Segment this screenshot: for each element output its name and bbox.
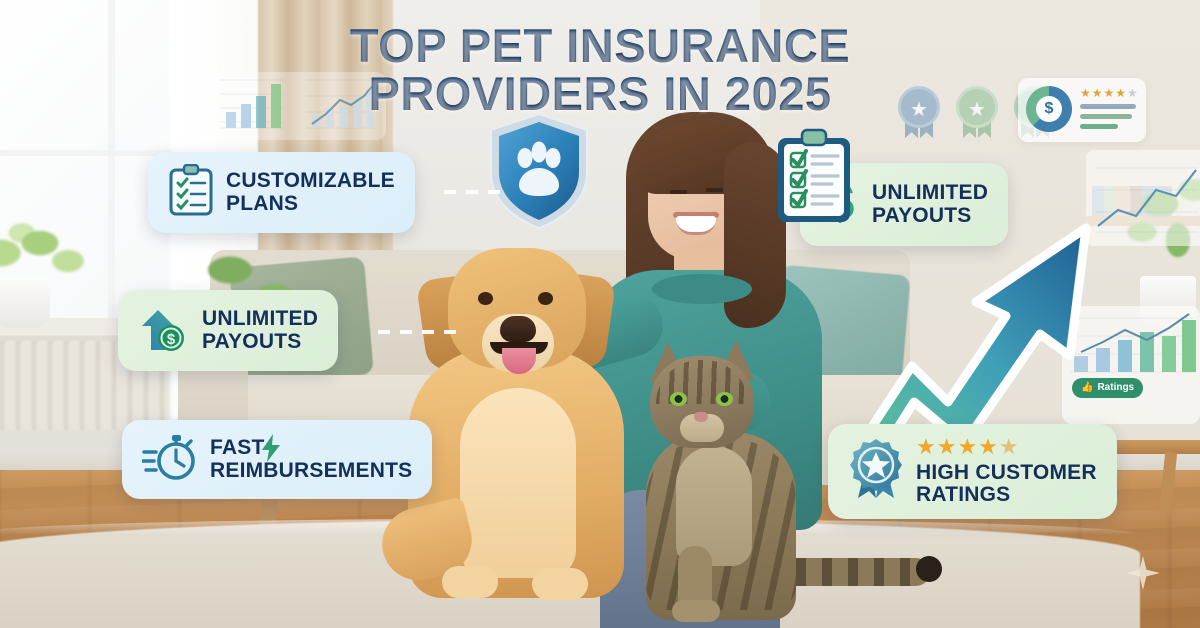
woman-brow-right bbox=[703, 176, 724, 180]
badge-label: FAST REIMBURSEMENTS bbox=[210, 437, 412, 482]
woman-eye-left bbox=[670, 190, 687, 194]
connector-payouts-to-scene bbox=[378, 330, 458, 334]
badge-label: HIGH CUSTOMER RATINGS bbox=[916, 462, 1097, 507]
woman-sweater-collar bbox=[652, 274, 752, 304]
badge-label: UNLIMITED PAYOUTS bbox=[872, 182, 988, 227]
dog-nose bbox=[500, 316, 536, 342]
woman-brow-left bbox=[667, 178, 688, 182]
window-mullion-vertical bbox=[108, 0, 115, 320]
badge-label-text: FAST REIMBURSEMENTS bbox=[210, 436, 412, 481]
arrow-up-dollar-icon: $ bbox=[138, 302, 190, 359]
badge-fast-reimbursements[interactable]: FAST REIMBURSEMENTS bbox=[122, 420, 432, 499]
dog-eye-left bbox=[478, 292, 493, 305]
decor-star-rating: ★★★★★ bbox=[1080, 86, 1139, 100]
infographic-canvas: ★ ★ ★ $ ★★★★★ bbox=[0, 0, 1200, 628]
svg-text:$: $ bbox=[167, 331, 176, 348]
dog-chest bbox=[460, 388, 576, 578]
badge-high-customer-ratings[interactable]: ★★★★★ HIGH CUSTOMER RATINGS bbox=[828, 424, 1117, 519]
decor-bar-3 bbox=[1080, 124, 1118, 129]
decor-bar-2 bbox=[1080, 114, 1132, 119]
clipboard-checklist-icon-large bbox=[772, 128, 856, 233]
badge-label: CUSTOMIZABLE PLANS bbox=[226, 170, 395, 215]
cat-tail bbox=[780, 558, 930, 586]
dog-eye-right bbox=[538, 292, 553, 305]
decor-bar-chart-card bbox=[206, 72, 386, 140]
badge-label: UNLIMITED PAYOUTS bbox=[202, 308, 318, 353]
dog-paw-right bbox=[532, 568, 588, 600]
dog-paw-left bbox=[442, 566, 498, 598]
golden-retriever-dog bbox=[386, 230, 646, 615]
decor-stars-filled: ★★★★ bbox=[1080, 86, 1127, 100]
cat-eye-left bbox=[670, 392, 687, 406]
cat-paw bbox=[672, 600, 720, 622]
decor-star-empty: ★ bbox=[1127, 86, 1139, 100]
ratings-text-block: ★★★★★ HIGH CUSTOMER RATINGS bbox=[916, 436, 1097, 507]
award-ribbon-icon: ★ bbox=[898, 86, 940, 138]
stopwatch-icon bbox=[142, 432, 198, 487]
award-ribbon-icon bbox=[848, 438, 904, 505]
lightning-bolt-icon bbox=[260, 434, 282, 467]
star-rating: ★★★★★ bbox=[916, 436, 1097, 458]
stars-filled: ★★★★ bbox=[916, 434, 999, 459]
window-plant-pot bbox=[0, 276, 50, 328]
shield-paw-icon bbox=[487, 112, 591, 230]
cat-eye-right bbox=[716, 392, 733, 406]
star-half: ★ bbox=[999, 434, 1020, 459]
decor-progress-bars bbox=[1080, 104, 1136, 134]
decor-mini-charts bbox=[206, 72, 386, 140]
badge-customizable-plans[interactable]: CUSTOMIZABLE PLANS bbox=[148, 152, 415, 233]
decor-donut-label: $ bbox=[1036, 96, 1062, 122]
cat-tail-tip bbox=[916, 556, 942, 582]
connector-customizable-to-shield bbox=[444, 190, 506, 194]
award-ribbon-icon: ★ bbox=[956, 86, 998, 138]
woman-eye-right bbox=[706, 188, 723, 192]
clipboard-checklist-icon bbox=[168, 164, 214, 221]
cat-nose bbox=[694, 412, 708, 422]
badge-unlimited-payouts-left[interactable]: $ UNLIMITED PAYOUTS bbox=[118, 290, 338, 371]
decor-bar-1 bbox=[1080, 104, 1136, 109]
